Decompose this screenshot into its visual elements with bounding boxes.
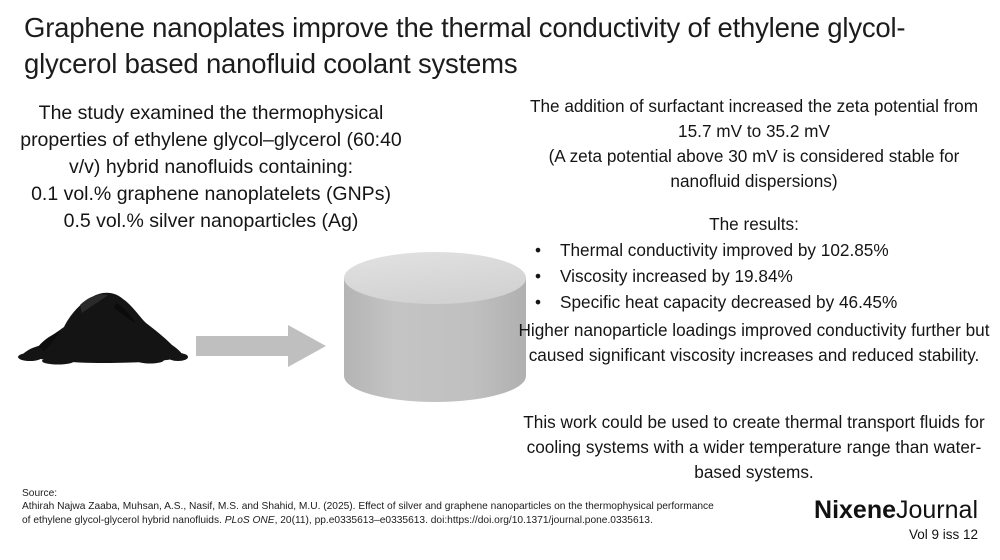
application-note: This work could be used to create therma…	[514, 410, 994, 485]
nanofluid-cylinder-icon	[338, 248, 533, 408]
list-item: • Specific heat capacity decreased by 46…	[514, 289, 994, 315]
bullet-icon: •	[535, 237, 541, 263]
citation-journal-name: PLoS ONE	[225, 515, 275, 526]
results-block: The results: • Thermal conductivity impr…	[514, 212, 994, 315]
process-artwork: The nanoparticles were dispersed with ul…	[0, 240, 560, 415]
nanoparticle-loading-note: Higher nanoparticle loadings improved co…	[514, 318, 994, 368]
results-heading: The results:	[514, 212, 994, 237]
results-list: • Thermal conductivity improved by 102.8…	[514, 237, 994, 315]
graphene-powder-pile-icon	[18, 275, 188, 365]
citation-part-two: , 20(11), pp.e0335613–e0335613. doi:http…	[275, 515, 653, 526]
source-label: Source:	[22, 487, 722, 500]
brand-name: NixeneJournal	[814, 496, 978, 525]
bullet-icon: •	[535, 263, 541, 289]
source-citation-block: Source: Athirah Najwa Zaaba, Muhsan, A.S…	[22, 487, 722, 527]
journal-brand: NixeneJournal Vol 9 iss 12	[814, 496, 978, 544]
brand-name-bold: Nixene	[814, 496, 896, 524]
study-intro-text: The study examined the thermophysical pr…	[6, 100, 416, 235]
zeta-potential-note: The addition of surfactant increased the…	[514, 94, 994, 194]
list-item-label: Specific heat capacity decreased by 46.4…	[560, 292, 897, 312]
list-item: • Viscosity increased by 19.84%	[514, 263, 994, 289]
list-item-label: Viscosity increased by 19.84%	[560, 266, 793, 286]
infographic-canvas: Graphene nanoplates improve the thermal …	[0, 0, 1000, 560]
list-item: • Thermal conductivity improved by 102.8…	[514, 237, 994, 263]
bullet-icon: •	[535, 289, 541, 315]
list-item-label: Thermal conductivity improved by 102.85%	[560, 240, 889, 260]
brand-name-light: Journal	[896, 496, 978, 524]
issue-label: Vol 9 iss 12	[814, 526, 978, 544]
process-arrow-icon	[196, 325, 326, 367]
page-title: Graphene nanoplates improve the thermal …	[24, 10, 954, 82]
citation-text: Athirah Najwa Zaaba, Muhsan, A.S., Nasif…	[22, 500, 722, 527]
